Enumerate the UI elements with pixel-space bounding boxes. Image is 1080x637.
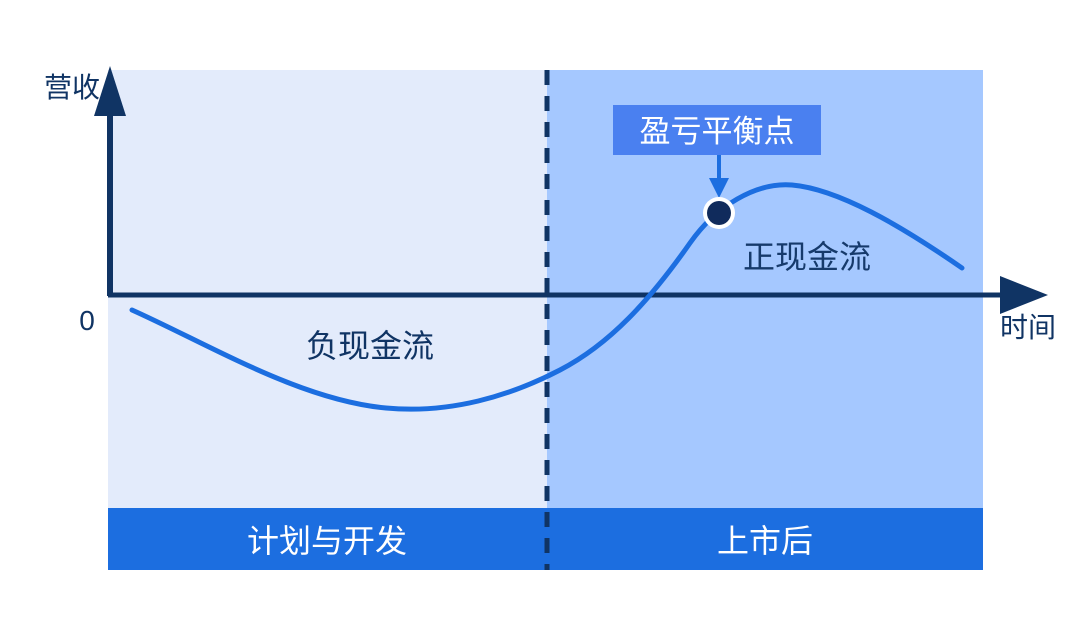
x-axis-arrow-icon (1000, 276, 1048, 314)
positive-cash-flow-label: 正现金流 (743, 239, 871, 275)
x-axis-label: 时间 (1000, 312, 1056, 343)
negative-cash-flow-label: 负现金流 (306, 328, 434, 364)
cash-flow-chart: 计划与开发 上市后 营收 时间 0 盈亏平衡点 负现金流 正现金流 (0, 0, 1080, 637)
phase-bar-label-postlaunch: 上市后 (717, 523, 813, 559)
chart-canvas: 计划与开发 上市后 营收 时间 0 盈亏平衡点 负现金流 正现金流 (0, 0, 1080, 637)
breakeven-point-dot[interactable] (707, 201, 731, 225)
phase-bar-label-planning: 计划与开发 (247, 523, 407, 559)
breakeven-callout-label: 盈亏平衡点 (640, 114, 795, 149)
y-axis-label: 营收 (44, 72, 100, 103)
phase-region-planning (108, 70, 547, 508)
zero-tick-label: 0 (79, 305, 95, 336)
